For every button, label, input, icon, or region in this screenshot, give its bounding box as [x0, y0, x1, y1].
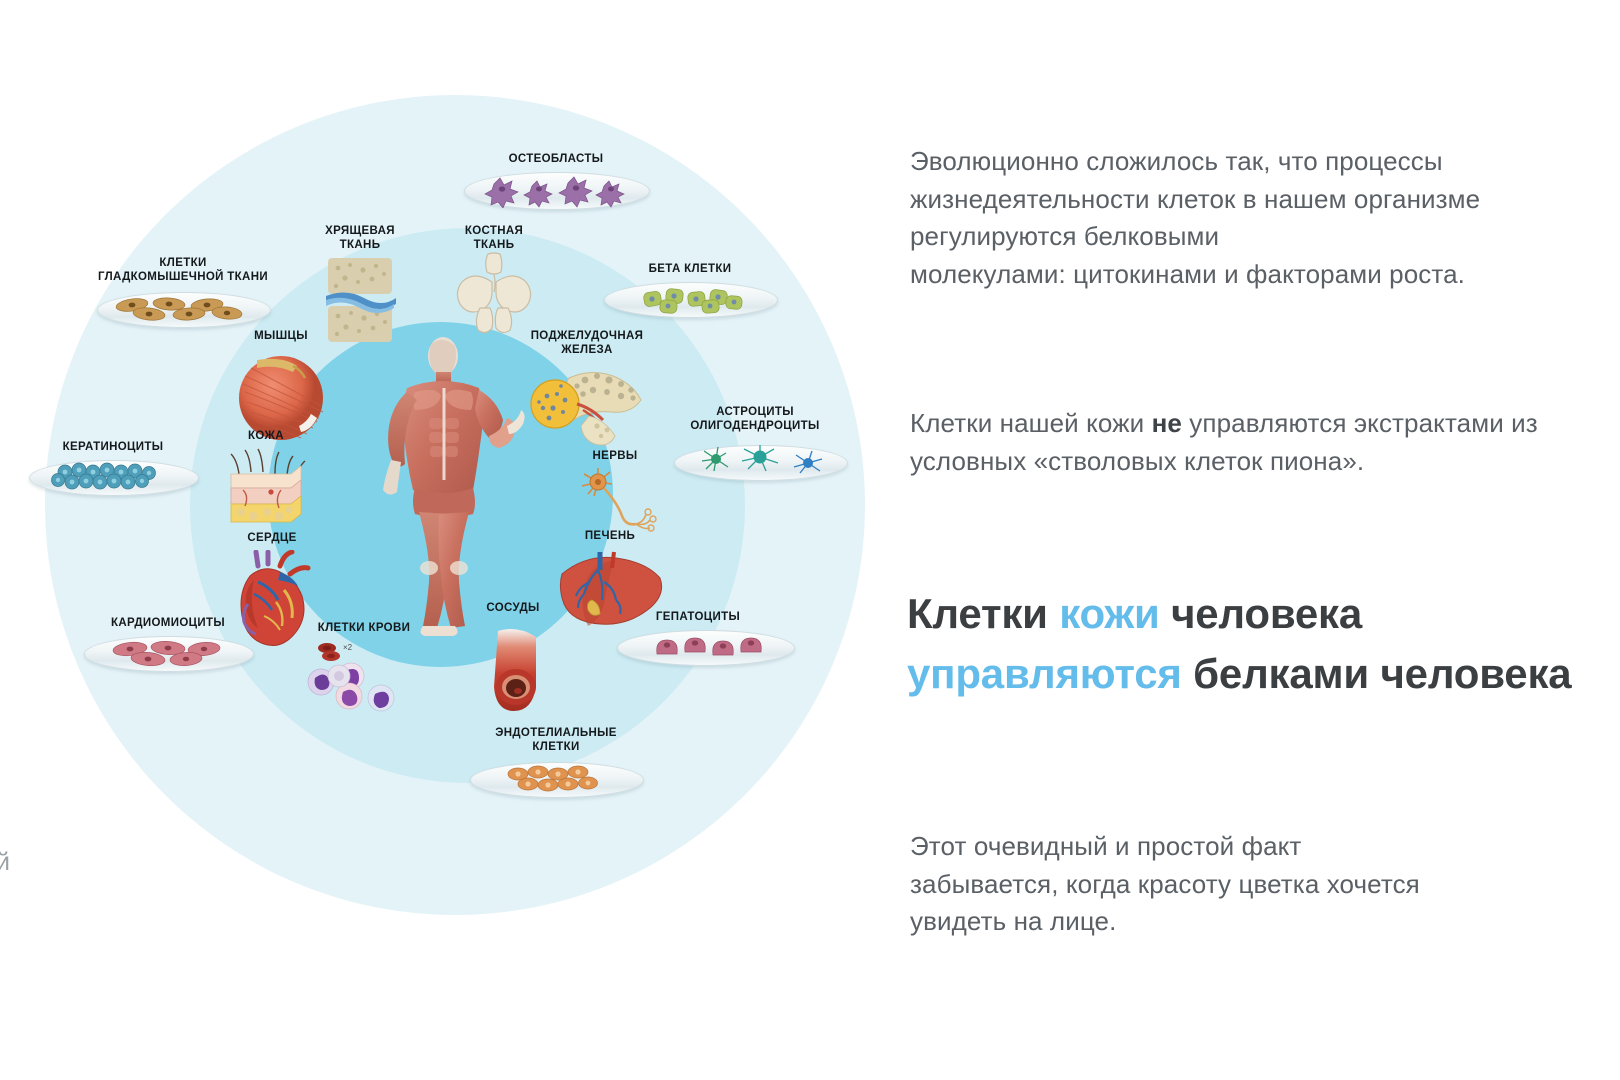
- label-beta-cells: БЕТА КЛЕТКИ: [610, 262, 770, 276]
- dish-osteoblasts: [464, 172, 648, 208]
- illustration-skin: [223, 448, 309, 528]
- headline-text-a: Клетки: [907, 590, 1059, 637]
- headline-highlight-controlled: управляются: [907, 650, 1182, 697]
- paragraph-intro-line-4: молекулами: цитокинами и факторами роста…: [910, 259, 1465, 289]
- label-skin: КОЖА: [221, 429, 311, 443]
- paragraph-closing-line-1: Этот очевидный и простой факт: [910, 831, 1301, 861]
- text-column: Эволюционно сложилось так, что процессы …: [905, 0, 1620, 1080]
- headline-line-2: управляются белками человека: [907, 644, 1617, 704]
- dish-astrocytes: [674, 445, 846, 479]
- dish-keratinocytes: [29, 460, 197, 494]
- label-pancreas: ПОДЖЕЛУДОЧНАЯ ЖЕЛЕЗА: [502, 329, 672, 358]
- headline-line-1: Клетки кожи человека: [907, 584, 1617, 644]
- label-endothelial-cells: ЭНДОТЕЛИАЛЬНЫЕ КЛЕТКИ: [461, 726, 651, 755]
- label-blood-cells: КЛЕТКИ КРОВИ: [289, 621, 439, 635]
- label-smooth-muscle-cells: КЛЕТКИ ГЛАДКОМЫШЕЧНОЙ ТКАНИ: [58, 256, 308, 285]
- paragraph-closing: Этот очевидный и простой факт забывается…: [910, 828, 1510, 941]
- dish-smooth-muscle-cells: [97, 292, 269, 326]
- page-edge-fragment: й: [0, 848, 10, 877]
- label-cardiomyocytes: КАРДИОМИОЦИТЫ: [73, 616, 263, 630]
- label-liver: ПЕЧЕНЬ: [555, 529, 665, 543]
- dish-cardiomyocytes: [84, 636, 252, 670]
- paragraph-closing-line-2: забывается, когда красоту цветка хочется: [910, 869, 1420, 899]
- paragraph-intro-line-2: жизнедеятельности клеток в нашем организ…: [910, 184, 1480, 214]
- illustration-pancreas: [527, 364, 647, 448]
- label-muscles: МЫШЦЫ: [221, 329, 341, 343]
- label-osteoblasts: ОСТЕОБЛАСТЫ: [461, 152, 651, 166]
- dish-hepatocytes: [617, 630, 793, 664]
- paragraph-skin-statement: Клетки нашей кожи не управляются экстрак…: [910, 405, 1600, 480]
- label-heart: СЕРДЦЕ: [222, 531, 322, 545]
- label-cartilage-tissue: ХРЯЩЕВАЯ ТКАНЬ: [295, 224, 425, 253]
- label-nerves: НЕРВЫ: [565, 449, 665, 463]
- label-vessels: СОСУДЫ: [458, 601, 568, 615]
- illustration-bone-pelvis: [454, 252, 534, 334]
- blood-cell-count-note: ×2: [343, 643, 353, 652]
- paragraph-skin-emphasis: не: [1152, 408, 1182, 438]
- cell-types-diagram: ОСТЕОБЛАСТЫ ХРЯЩЕВАЯ ТКАНЬ: [0, 0, 900, 1080]
- illustration-neuron: [574, 466, 666, 538]
- headline: Клетки кожи человека управляются белками…: [907, 584, 1617, 703]
- label-keratinocytes: КЕРАТИНОЦИТЫ: [23, 440, 203, 454]
- human-body-figure: [335, 330, 550, 640]
- label-bone-tissue: КОСТНАЯ ТКАНЬ: [434, 224, 554, 253]
- headline-highlight-skin: кожи: [1059, 590, 1159, 637]
- paragraph-intro-line-1: Эволюционно сложилось так, что процессы: [910, 146, 1443, 176]
- dish-beta-cells: [604, 282, 776, 316]
- label-astrocytes-oligodendrocytes: АСТРОЦИТЫ ОЛИГОДЕНДРОЦИТЫ: [655, 405, 855, 434]
- slide-root: ОСТЕОБЛАСТЫ ХРЯЩЕВАЯ ТКАНЬ: [0, 0, 1620, 1080]
- paragraph-intro: Эволюционно сложилось так, что процессы …: [910, 143, 1600, 294]
- dish-endothelial-cells: [470, 762, 642, 796]
- label-hepatocytes: ГЕПАТОЦИТЫ: [613, 610, 783, 624]
- paragraph-intro-line-3: регулируются белковыми: [910, 221, 1219, 251]
- paragraph-closing-line-3: увидеть на лице.: [910, 906, 1116, 936]
- paragraph-skin-part-1: Клетки нашей кожи: [910, 408, 1152, 438]
- headline-text-b: человека: [1160, 590, 1362, 637]
- illustration-blood-cells: ×2: [305, 640, 435, 720]
- headline-text-c: белками человека: [1182, 650, 1572, 697]
- illustration-blood-vessel: [484, 625, 550, 711]
